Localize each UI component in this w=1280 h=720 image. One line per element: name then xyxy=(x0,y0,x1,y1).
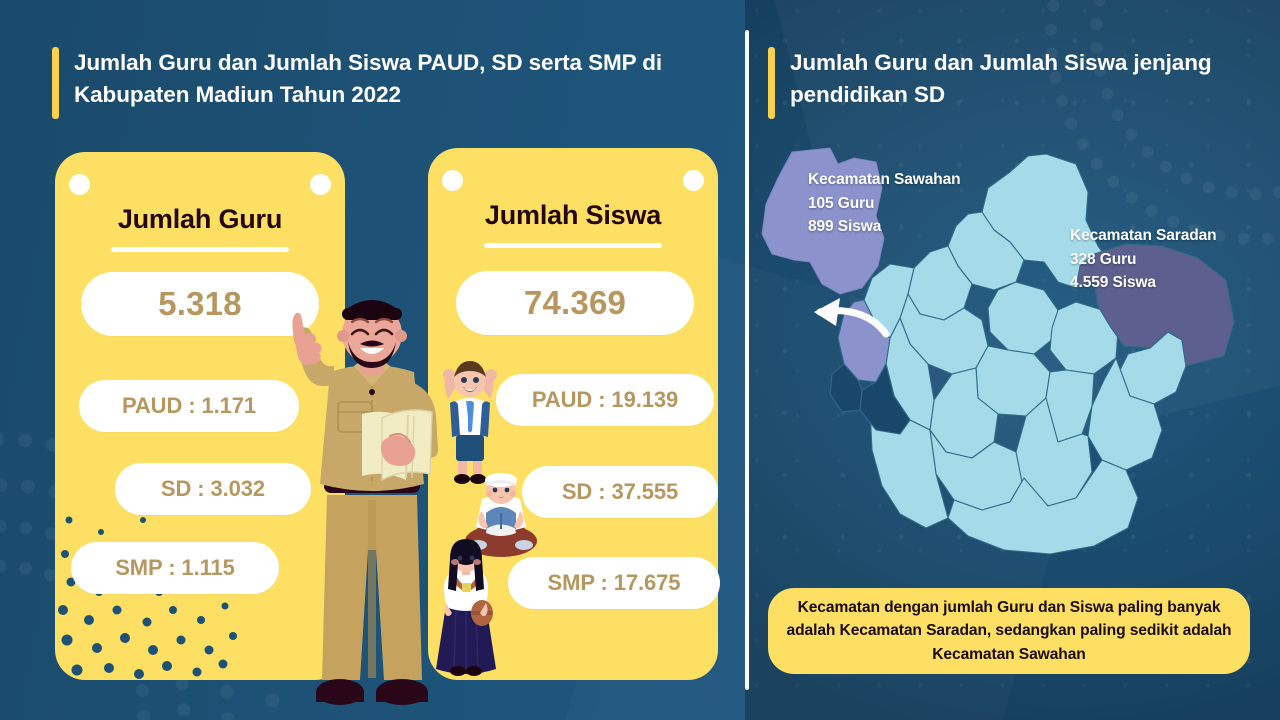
punch-hole-left xyxy=(442,170,463,191)
siswa-card-underline xyxy=(484,243,662,248)
summary-note-box: Kecamatan dengan jumlah Guru dan Siswa p… xyxy=(768,588,1250,674)
sawahan-guru-count: 105 Guru xyxy=(808,192,961,216)
guru-card-heading: Jumlah Guru xyxy=(55,204,345,235)
left-panel-title: Jumlah Guru dan Jumlah Siswa PAUD, SD se… xyxy=(52,47,722,119)
saradan-guru-count: 328 Guru xyxy=(1070,248,1216,272)
punch-hole-left xyxy=(69,174,90,195)
sawahan-siswa-count: 899 Siswa xyxy=(808,215,961,239)
summary-note-text: Kecamatan dengan jumlah Guru dan Siswa p… xyxy=(784,596,1234,665)
title-accent-bar xyxy=(768,47,775,119)
saradan-siswa-count: 4.559 Siswa xyxy=(1070,271,1216,295)
student-illustrations xyxy=(424,355,554,685)
map-annotation-saradan: Kecamatan Saradan 328 Guru 4.559 Siswa xyxy=(1070,224,1216,295)
student-paud-icon xyxy=(443,361,497,484)
punch-hole-right xyxy=(310,174,331,195)
map-kabupaten-madiun: Kecamatan Sawahan 105 Guru 899 Siswa Kec… xyxy=(758,142,1270,582)
right-title-text: Jumlah Guru dan Jumlah Siswa jenjang pen… xyxy=(790,47,1248,111)
arrow-head xyxy=(814,298,840,326)
saradan-district-name: Kecamatan Saradan xyxy=(1070,224,1216,248)
punch-hole-right xyxy=(683,170,704,191)
infographic-canvas: Jumlah Guru dan Jumlah Siswa PAUD, SD se… xyxy=(0,0,1280,720)
siswa-card-heading: Jumlah Siswa xyxy=(428,200,718,231)
right-panel-title: Jumlah Guru dan Jumlah Siswa jenjang pen… xyxy=(768,47,1248,119)
map-annotation-sawahan: Kecamatan Sawahan 105 Guru 899 Siswa xyxy=(808,168,961,239)
guru-paud-pill: PAUD : 1.171 xyxy=(79,380,299,432)
map-district xyxy=(988,282,1058,354)
student-smp-icon xyxy=(436,539,496,676)
left-title-text: Jumlah Guru dan Jumlah Siswa PAUD, SD se… xyxy=(74,47,722,111)
panel-divider xyxy=(745,30,749,690)
guru-smp-pill: SMP : 1.115 xyxy=(71,542,279,594)
guru-card-underline xyxy=(111,247,289,252)
siswa-total-pill: 74.369 xyxy=(456,271,694,335)
title-accent-bar xyxy=(52,47,59,119)
sawahan-district-name: Kecamatan Sawahan xyxy=(808,168,961,192)
